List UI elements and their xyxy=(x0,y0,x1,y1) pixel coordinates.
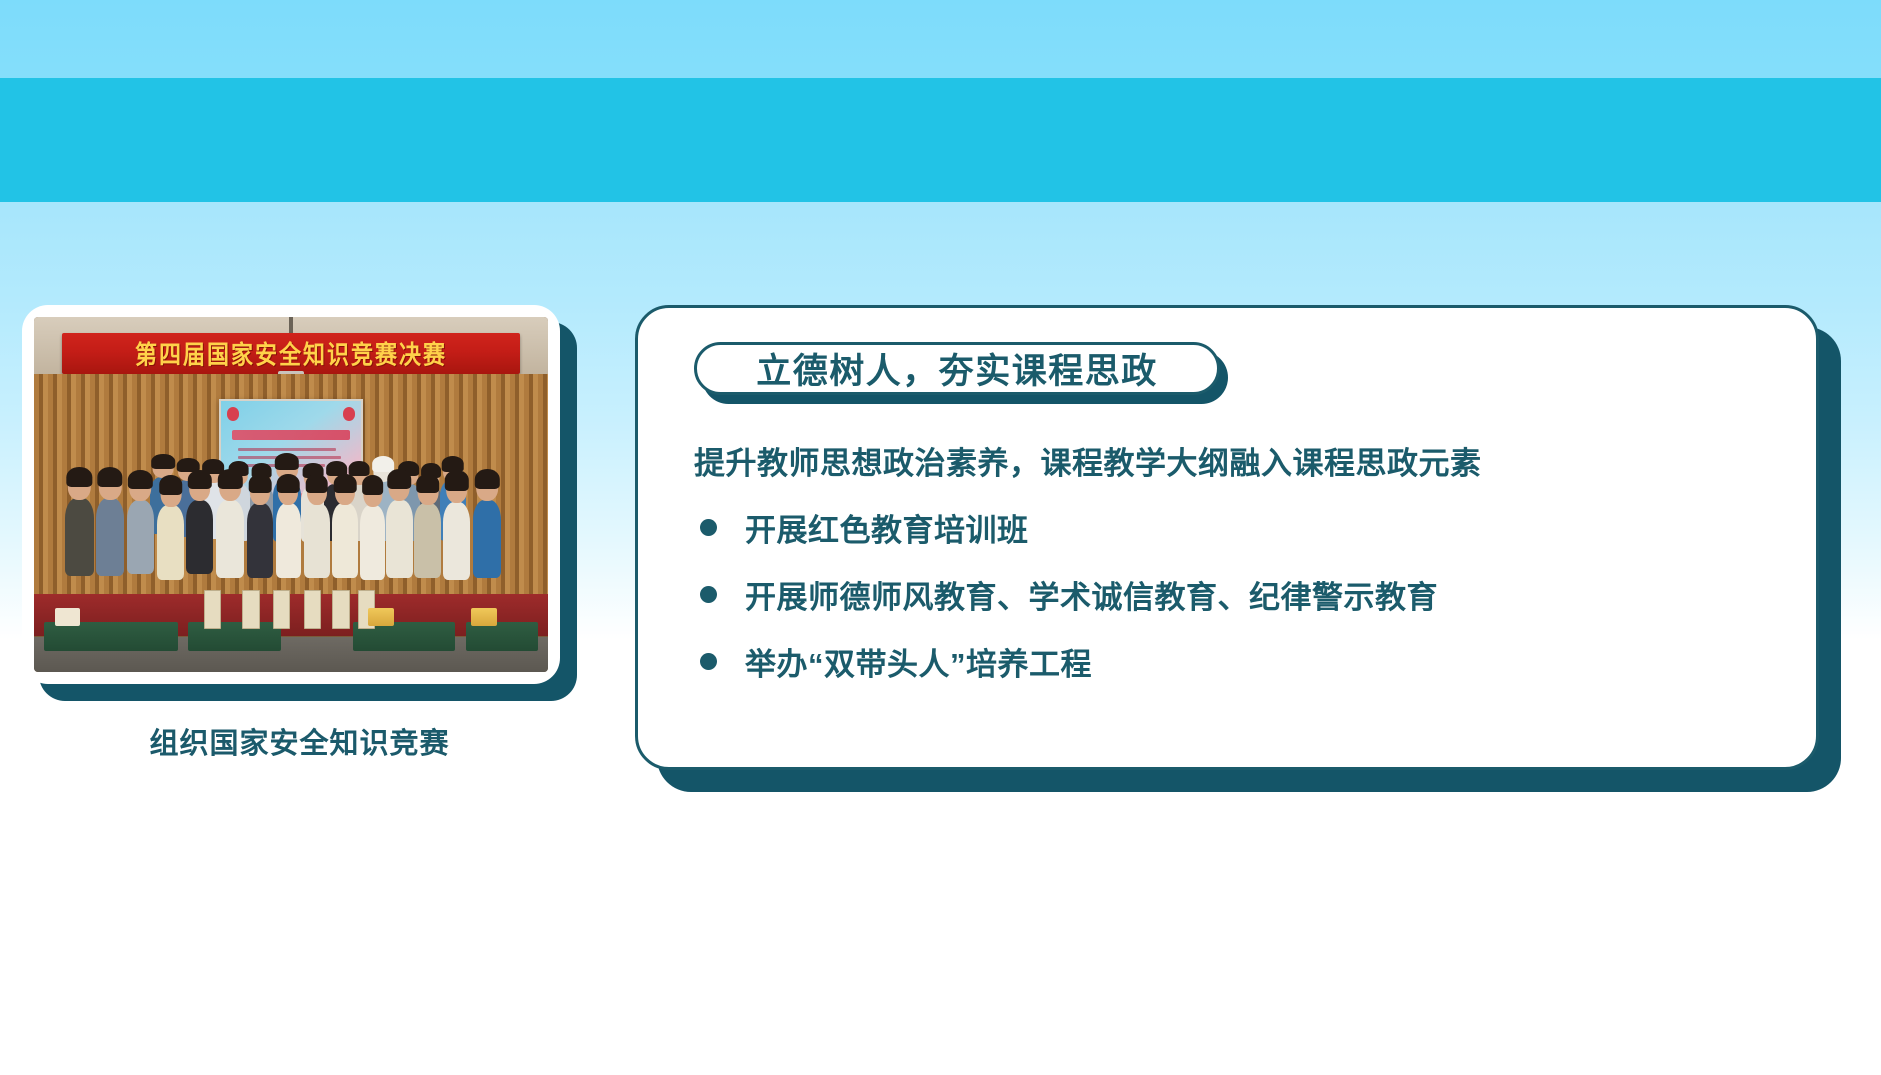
photo-person xyxy=(186,500,214,575)
list-item-label: 开展师德师风教育、学术诚信教育、纪律警示教育 xyxy=(745,572,1438,617)
photo-person xyxy=(157,505,184,580)
photo-gift-bag xyxy=(304,590,321,629)
photo-gift-box xyxy=(55,608,81,626)
section-subtitle: 提升教师思想政治素养，课程教学大纲融入课程思政元素 xyxy=(694,438,1776,483)
section-title-text: 立德树人，夯实课程思政 xyxy=(756,343,1158,394)
bullet-list: 开展红色教育培训班 开展师德师风教育、学术诚信教育、纪律警示教育 举办“双带头人… xyxy=(700,505,1776,684)
photo-gift-bag xyxy=(273,590,290,629)
list-item: 开展红色教育培训班 xyxy=(700,505,1776,550)
photo-person xyxy=(386,500,413,578)
photo-person xyxy=(276,503,302,578)
background-top-strip xyxy=(0,0,1881,78)
photo-table xyxy=(44,622,178,650)
photo-gift-box xyxy=(471,608,497,626)
content-card-body: 立德树人，夯实课程思政 提升教师思想政治素养，课程教学大纲融入课程思政元素 开展… xyxy=(635,305,1819,770)
photo-gift-bag xyxy=(242,590,259,629)
list-item-label: 开展红色教育培训班 xyxy=(745,505,1029,550)
slide-root: 第四届国家安全知识竞赛决赛 xyxy=(0,0,1881,1075)
list-item: 举办“双带头人”培养工程 xyxy=(700,639,1776,684)
event-photo: 第四届国家安全知识竞赛决赛 xyxy=(34,317,548,672)
photo-person xyxy=(216,500,244,578)
photo-person xyxy=(443,502,471,580)
photo-person xyxy=(304,503,330,578)
list-item-label: 举办“双带头人”培养工程 xyxy=(745,639,1092,684)
photo-person xyxy=(127,500,155,575)
header-band xyxy=(0,78,1881,202)
photo-person xyxy=(96,498,125,576)
photo-frame: 第四届国家安全知识竞赛决赛 xyxy=(22,305,560,684)
photo-gift-bag xyxy=(204,590,221,629)
photo-person xyxy=(360,505,385,580)
photo-table xyxy=(188,622,281,650)
photo-person xyxy=(247,503,273,578)
photo-table xyxy=(466,622,538,650)
photo-caption: 组织国家安全知识竞赛 xyxy=(22,720,577,762)
photo-person xyxy=(473,500,501,578)
photo-card: 第四届国家安全知识竞赛决赛 xyxy=(22,305,577,701)
bullet-dot-icon xyxy=(700,653,717,670)
bullet-dot-icon xyxy=(700,519,717,536)
photo-person xyxy=(414,503,441,578)
section-title-pill: 立德树人，夯实课程思政 xyxy=(694,342,1228,404)
section-title-pill-body: 立德树人，夯实课程思政 xyxy=(694,342,1220,395)
photo-gift-bag xyxy=(332,590,349,629)
bullet-dot-icon xyxy=(700,586,717,603)
content-card: 立德树人，夯实课程思政 提升教师思想政治素养，课程教学大纲融入课程思政元素 开展… xyxy=(635,305,1845,795)
photo-person xyxy=(332,503,358,578)
photo-person xyxy=(65,498,94,576)
list-item: 开展师德师风教育、学术诚信教育、纪律警示教育 xyxy=(700,572,1776,617)
photo-gift-box xyxy=(368,608,394,626)
